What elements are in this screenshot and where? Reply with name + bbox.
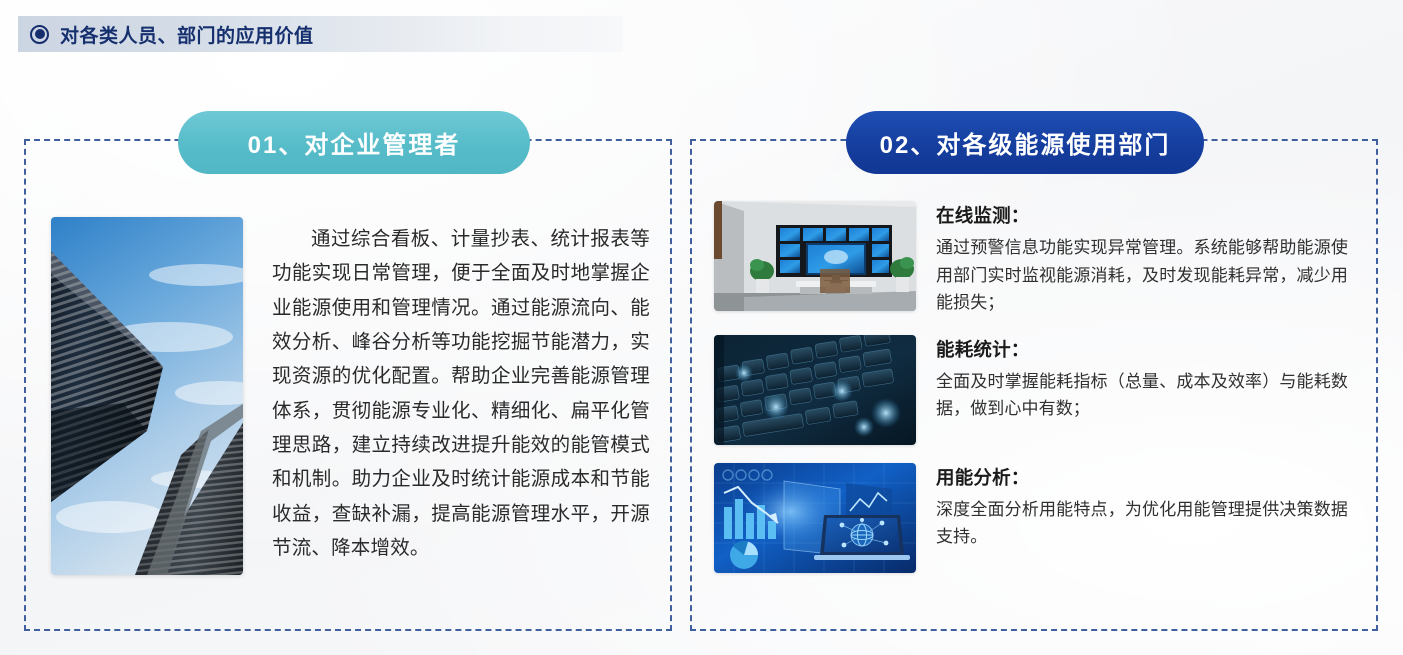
section-header: 对各类人员、部门的应用价值	[18, 16, 623, 52]
feature-item: 能耗统计： 全面及时掌握能耗指标（总量、成本及效率）与能耗数据，做到心中有数；	[714, 335, 1348, 445]
target-circle-icon	[30, 25, 49, 44]
card-left-body: 通过综合看板、计量抄表、统计报表等功能实现日常管理，便于全面及时地掌握企业能源使…	[24, 139, 672, 631]
card-left-pill-title: 01、对企业管理者	[178, 111, 530, 174]
building-photo-art	[51, 217, 243, 575]
data-analysis-photo	[714, 463, 916, 573]
feature-title: 用能分析：	[936, 464, 1348, 490]
card-left-pill-label: 01、对企业管理者	[248, 125, 461, 160]
feature-text: 在线监测： 通过预警信息功能实现异常管理。系统能够帮助能源使用部门实时监视能源消…	[936, 201, 1348, 317]
page-title: 对各类人员、部门的应用价值	[60, 21, 314, 48]
control-room-art	[714, 201, 916, 311]
card-right-pill-label: 02、对各级能源使用部门	[880, 125, 1171, 160]
page-root: 对各类人员、部门的应用价值 01、对企业管理者	[0, 0, 1403, 655]
feature-title: 在线监测：	[936, 202, 1348, 228]
card-right-pill-title: 02、对各级能源使用部门	[846, 111, 1204, 174]
feature-desc: 通过预警信息功能实现异常管理。系统能够帮助能源使用部门实时监视能源消耗，及时发现…	[936, 234, 1348, 317]
data-analysis-art	[714, 463, 916, 573]
keyboard-art	[714, 335, 916, 445]
feature-item: 用能分析： 深度全面分析用能特点，为优化用能管理提供决策数据支持。	[714, 463, 1348, 573]
control-room-photo	[714, 201, 916, 311]
feature-desc: 全面及时掌握能耗指标（总量、成本及效率）与能耗数据，做到心中有数；	[936, 368, 1348, 423]
feature-desc: 深度全面分析用能特点，为优化用能管理提供决策数据支持。	[936, 496, 1348, 551]
feature-title: 能耗统计：	[936, 336, 1348, 362]
building-photo	[51, 217, 243, 575]
feature-item: 在线监测： 通过预警信息功能实现异常管理。系统能够帮助能源使用部门实时监视能源消…	[714, 201, 1348, 317]
keyboard-photo	[714, 335, 916, 445]
feature-text: 用能分析： 深度全面分析用能特点，为优化用能管理提供决策数据支持。	[936, 463, 1348, 573]
feature-text: 能耗统计： 全面及时掌握能耗指标（总量、成本及效率）与能耗数据，做到心中有数；	[936, 335, 1348, 445]
card-right-body: 在线监测： 通过预警信息功能实现异常管理。系统能够帮助能源使用部门实时监视能源消…	[690, 139, 1378, 631]
card-left-paragraph: 通过综合看板、计量抄表、统计报表等功能实现日常管理，便于全面及时地掌握企业能源使…	[272, 217, 650, 607]
